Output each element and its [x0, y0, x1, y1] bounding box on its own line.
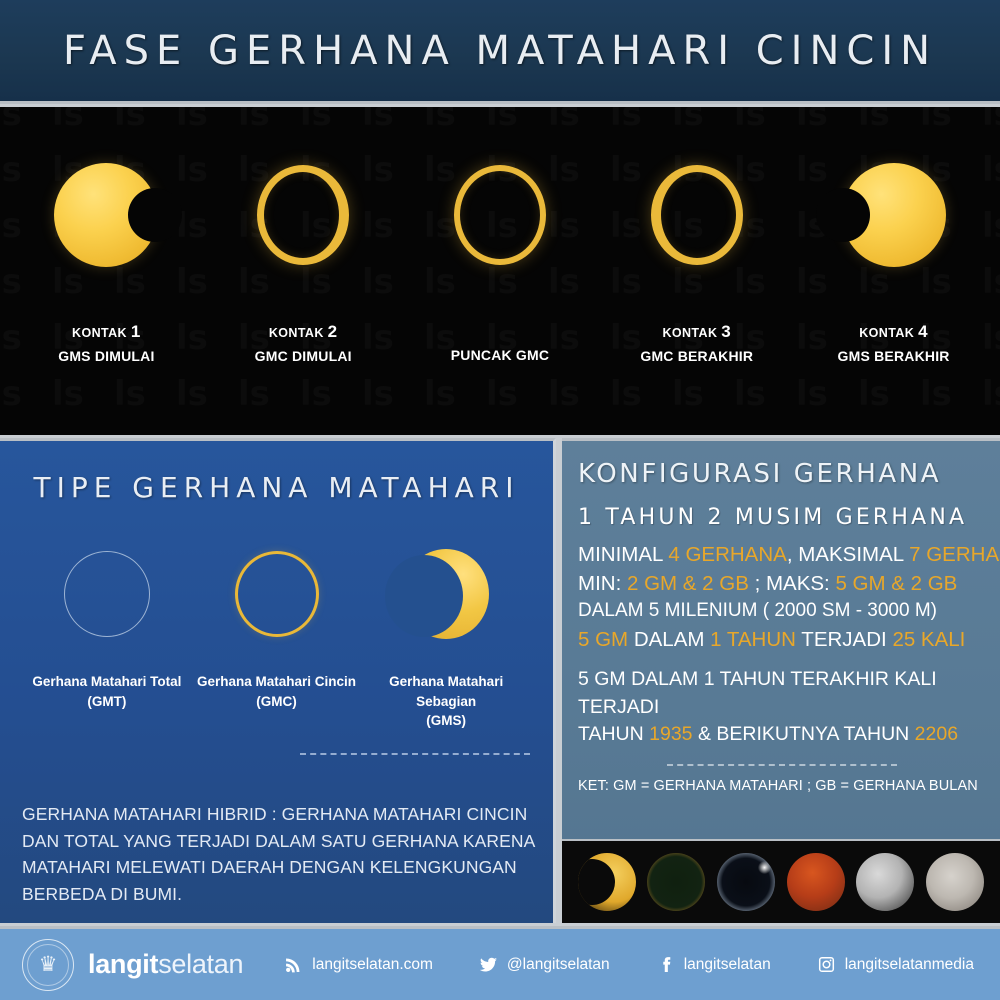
partial-eclipse-crescent-icon: [361, 542, 531, 646]
phase-kontak-number: 2: [328, 322, 338, 341]
eclipse-type-label: Gerhana Matahari Cincin (GMC): [192, 672, 362, 711]
left-panel-divider: [300, 753, 530, 755]
config-line-minimal: MINIMAL 4 GERHANA, MAKSIMAL 7 GERHANA: [578, 540, 986, 569]
facebook-icon: [656, 955, 675, 974]
phase-caption: GMS DIMULAI: [11, 348, 201, 364]
twitter-icon: [479, 955, 498, 974]
phase-puncak: PUNCAK GMC: [405, 107, 595, 363]
left-panel-title: TIPE GERHANA MATAHARI: [22, 471, 531, 504]
hybrid-eclipse-note: GERHANA MATAHARI HIBRID : GERHANA MATAHA…: [22, 801, 537, 907]
phase-kontak-3: KONTAK 3 GMC BERAKHIR: [602, 107, 792, 364]
right-panel-title: KONFIGURASI GERHANA: [578, 459, 986, 489]
lunar-eclipse-red-photo: [787, 853, 845, 911]
phase-kontak-number: 3: [721, 322, 731, 341]
social-link-facebook[interactable]: langitselatan: [656, 955, 771, 974]
phase-kontak-label: KONTAK 2: [208, 322, 398, 342]
config-line-terakhir-1: 5 GM DALAM 1 TAHUN TERAKHIR KALI TERJADI: [578, 666, 986, 721]
partial-sun-icon: [11, 107, 201, 322]
phase-row: KONTAK 1 GMS DIMULAI KONTAK 2 GMC DIMULA…: [0, 107, 1000, 435]
langitselatan-seal-icon: ♛: [22, 939, 74, 991]
phase-kontak-label: KONTAK 1: [11, 322, 201, 342]
right-panel-divider: [667, 764, 897, 766]
brand-wordmark: langitselatan: [88, 949, 243, 980]
eclipse-phases-section: lslslslslslslslslslslslslslslslslslslsls…: [0, 107, 1000, 435]
infographic-page: FASE GERHANA MATAHARI CINCIN lslslslslsl…: [0, 0, 1000, 1000]
instagram-icon: [817, 955, 836, 974]
header-banner: FASE GERHANA MATAHARI CINCIN: [0, 0, 1000, 104]
config-line-terakhir-2: TAHUN 1935 & BERIKUTNYA TAHUN 2206: [578, 721, 986, 748]
eclipse-type-gms: Gerhana Matahari Sebagian (GMS): [361, 542, 531, 731]
social-label: langitselatanmedia: [845, 956, 974, 974]
annular-ring-icon: [208, 107, 398, 322]
config-heading: 1 TAHUN 2 MUSIM GERHANA: [578, 505, 986, 530]
social-label: @langitselatan: [507, 956, 610, 974]
phase-kontak-2: KONTAK 2 GMC DIMULAI: [208, 107, 398, 364]
eclipse-configuration-panel: KONFIGURASI GERHANA 1 TAHUN 2 MUSIM GERH…: [562, 438, 1000, 923]
annular-ring-icon: [602, 107, 792, 322]
social-link-website[interactable]: langitselatan.com: [284, 955, 433, 974]
phase-caption: GMC DIMULAI: [208, 348, 398, 364]
full-moon-photo: [926, 853, 984, 911]
config-line-min-maks: MIN: 2 GM & 2 GB ; MAKS: 5 GM & 2 GB: [578, 569, 986, 598]
total-eclipse-circle-icon: [22, 542, 192, 646]
seal-figure-glyph: ♛: [39, 954, 58, 975]
eclipse-photo-strip: [562, 839, 1000, 923]
eclipse-type-gmt: Gerhana Matahari Total (GMT): [22, 542, 192, 711]
config-line-milenium: DALAM 5 MILENIUM ( 2000 SM - 3000 M): [578, 598, 986, 625]
annular-eclipse-ring-icon: [192, 542, 362, 646]
partial-lunar-photo: [856, 853, 914, 911]
phase-kontak-4: KONTAK 4 GMS BERAKHIR: [799, 107, 989, 364]
social-link-instagram[interactable]: langitselatanmedia: [817, 955, 974, 974]
eclipse-types-panel: TIPE GERHANA MATAHARI Gerhana Matahari T…: [0, 438, 556, 923]
phase-kontak-number: 4: [918, 322, 928, 341]
social-links: langitselatan.com @langitselatan langits…: [284, 955, 978, 974]
phase-kontak-1: KONTAK 1 GMS DIMULAI: [11, 107, 201, 364]
eclipse-type-list: Gerhana Matahari Total (GMT) Gerhana Mat…: [22, 542, 531, 731]
annular-crescent-photo: [578, 853, 636, 911]
legend-note: KET: GM = GERHANA MATAHARI ; GB = GERHAN…: [578, 778, 986, 794]
annular-dark-ring-photo: [647, 853, 705, 911]
footer-bar: ♛ langitselatan langitselatan.com @langi…: [0, 926, 1000, 1000]
phase-kontak-number: 1: [131, 322, 141, 341]
total-diamond-ring-photo: [717, 853, 775, 911]
phase-kontak-label: KONTAK 3: [602, 322, 792, 342]
eclipse-type-label: Gerhana Matahari Total (GMT): [22, 672, 192, 711]
rss-icon: [284, 955, 303, 974]
social-label: langitselatan.com: [312, 956, 433, 974]
phase-caption: GMS BERAKHIR: [799, 348, 989, 364]
phase-caption: GMC BERAKHIR: [602, 348, 792, 364]
social-link-twitter[interactable]: @langitselatan: [479, 955, 610, 974]
annular-ring-max-icon: [405, 107, 595, 322]
page-title: FASE GERHANA MATAHARI CINCIN: [63, 28, 937, 74]
config-line-terjadi: 5 GM DALAM 1 TAHUN TERJADI 25 KALI: [578, 625, 986, 654]
phase-kontak-label: KONTAK 4: [799, 322, 989, 342]
partial-sun-icon: [799, 107, 989, 322]
social-label: langitselatan: [684, 956, 771, 974]
eclipse-type-gmc: Gerhana Matahari Cincin (GMC): [192, 542, 362, 711]
phase-caption: PUNCAK GMC: [405, 347, 595, 363]
eclipse-type-label: Gerhana Matahari Sebagian (GMS): [361, 672, 531, 731]
